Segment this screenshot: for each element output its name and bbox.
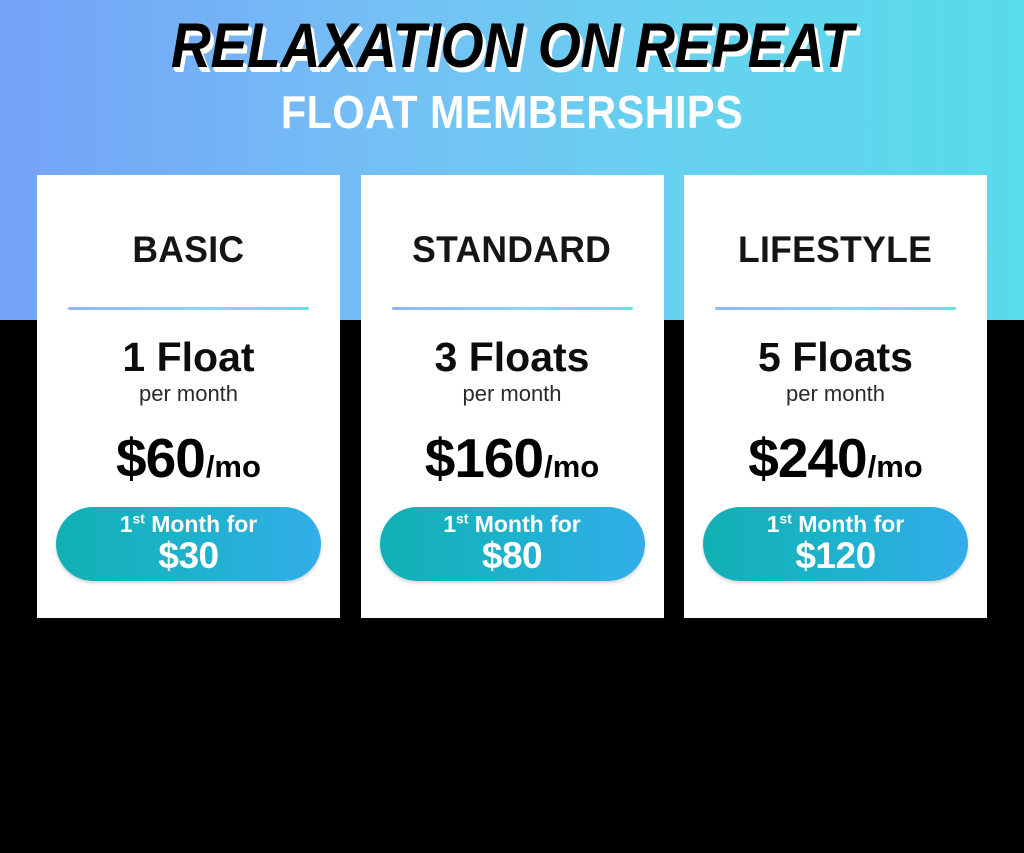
cta-button-lifestyle[interactable]: 1st Month for $120: [703, 507, 968, 581]
cta-ordinal-number: 1: [443, 511, 456, 537]
page-subtitle: FLOAT MEMBERSHIPS: [51, 80, 973, 136]
plan-price-row: $160 /mo: [425, 405, 599, 486]
cta-offer-label-rest: Month for: [468, 511, 580, 537]
plan-float-count: 1 Float: [122, 310, 254, 378]
plan-frequency: per month: [786, 378, 885, 405]
cta-offer-label-rest: Month for: [792, 511, 904, 537]
pricing-card-row: BASIC 1 Float per month $60 /mo 1st Mont…: [37, 175, 987, 618]
cta-offer-amount: $30: [158, 537, 218, 575]
cta-offer-label: 1st Month for: [767, 513, 904, 536]
cta-button-basic[interactable]: 1st Month for $30: [56, 507, 321, 581]
page-title: RELAXATION ON REPEAT: [61, 0, 962, 80]
plan-float-count: 3 Floats: [435, 310, 590, 378]
cta-offer-amount: $80: [482, 537, 542, 575]
cta-ordinal-suffix: st: [456, 511, 468, 526]
cta-button-standard[interactable]: 1st Month for $80: [380, 507, 645, 581]
plan-frequency: per month: [462, 378, 561, 405]
cta-offer-label-rest: Month for: [145, 511, 257, 537]
cta-offer-amount: $120: [795, 537, 875, 575]
poster-header: RELAXATION ON REPEAT FLOAT MEMBERSHIPS: [0, 0, 1024, 136]
pricing-card-standard[interactable]: STANDARD 3 Floats per month $160 /mo 1st…: [361, 175, 664, 618]
cta-offer-label: 1st Month for: [120, 513, 257, 536]
plan-price-unit: /mo: [544, 451, 599, 482]
plan-price-row: $240 /mo: [748, 405, 922, 486]
plan-price-unit: /mo: [206, 451, 261, 482]
cta-ordinal-number: 1: [767, 511, 780, 537]
plan-name: LIFESTYLE: [738, 175, 932, 271]
plan-price: $240: [748, 431, 866, 486]
pricing-card-lifestyle[interactable]: LIFESTYLE 5 Floats per month $240 /mo 1s…: [684, 175, 987, 618]
cta-ordinal-suffix: st: [133, 511, 145, 526]
pricing-poster: RELAXATION ON REPEAT FLOAT MEMBERSHIPS B…: [0, 0, 1024, 853]
plan-price: $60: [116, 431, 205, 486]
cta-ordinal-number: 1: [120, 511, 133, 537]
plan-float-count: 5 Floats: [758, 310, 913, 378]
plan-price-row: $60 /mo: [116, 405, 261, 486]
pricing-card-basic[interactable]: BASIC 1 Float per month $60 /mo 1st Mont…: [37, 175, 340, 618]
cta-ordinal-suffix: st: [780, 511, 792, 526]
cta-offer-label: 1st Month for: [443, 513, 580, 536]
plan-name: BASIC: [133, 175, 245, 271]
plan-name: STANDARD: [413, 175, 612, 271]
plan-frequency: per month: [139, 378, 238, 405]
plan-price-unit: /mo: [868, 451, 923, 482]
plan-price: $160: [425, 431, 543, 486]
